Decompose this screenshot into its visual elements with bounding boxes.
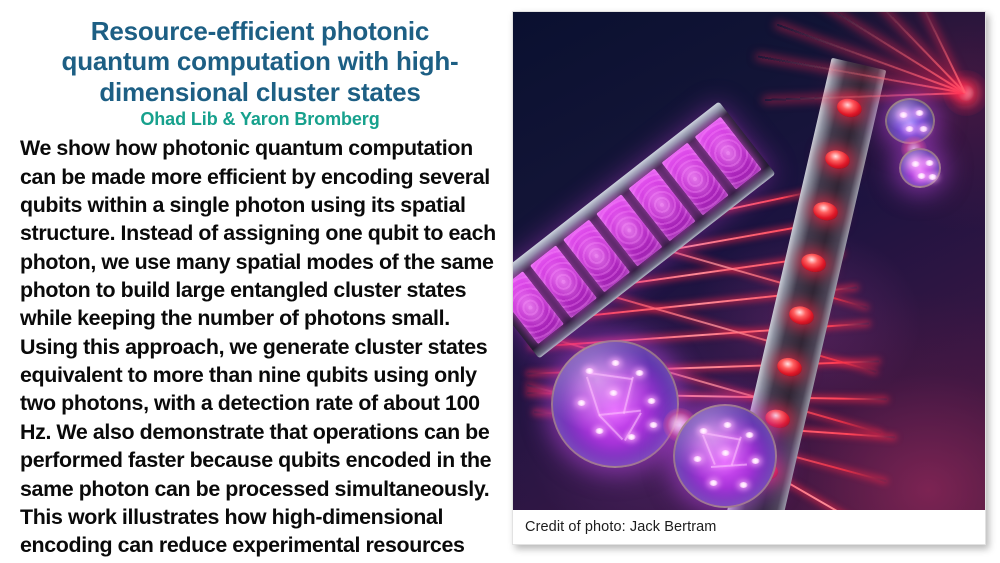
graph-node xyxy=(928,174,937,180)
graph-node xyxy=(917,173,926,179)
slide-root: Resource-efficient photonic quantum comp… xyxy=(0,0,1000,563)
graph-edge xyxy=(589,372,633,380)
detector-dot xyxy=(775,355,803,378)
graph-edge xyxy=(702,435,716,465)
detector-dot xyxy=(787,303,815,326)
detector-dot xyxy=(799,252,827,275)
graph-edge xyxy=(598,414,623,440)
graph-node xyxy=(751,458,760,464)
graph-edge xyxy=(711,463,747,467)
graph-node xyxy=(699,428,708,434)
graph-node xyxy=(709,480,718,486)
figure-caption: Credit of photo: Jack Bertram xyxy=(513,510,985,544)
page-title: Resource-efficient photonic quantum comp… xyxy=(20,16,500,107)
figure-image xyxy=(513,12,985,510)
detector-dot xyxy=(823,148,851,171)
graph-node xyxy=(595,428,604,434)
graph-node xyxy=(627,434,636,440)
detector-dot xyxy=(835,96,863,119)
cluster-state-sphere xyxy=(899,148,941,188)
graph-node xyxy=(721,450,730,456)
figure-card: Credit of photo: Jack Bertram xyxy=(512,11,986,545)
graph-node xyxy=(739,482,748,488)
graph-node xyxy=(745,432,754,438)
graph-node xyxy=(611,360,620,366)
graph-edge xyxy=(731,437,742,466)
cluster-state-sphere xyxy=(551,340,679,468)
graph-node xyxy=(693,456,702,462)
graph-node xyxy=(925,160,934,166)
text-column: Resource-efficient photonic quantum comp… xyxy=(0,0,508,563)
graph-node xyxy=(919,126,928,132)
cluster-state-sphere xyxy=(673,404,777,508)
graph-node xyxy=(905,126,914,132)
graph-node xyxy=(723,422,732,428)
graph-node xyxy=(899,112,908,118)
graph-edge xyxy=(703,432,741,440)
graph-node xyxy=(577,400,586,406)
graph-node xyxy=(915,110,924,116)
graph-node xyxy=(911,161,920,167)
graph-edge xyxy=(623,377,634,414)
graph-node xyxy=(647,398,656,404)
graph-node xyxy=(649,422,658,428)
detector-dot xyxy=(811,200,839,223)
graph-node xyxy=(635,370,644,376)
abstract-paragraph: We show how photonic quantum computation… xyxy=(20,134,500,563)
graph-node xyxy=(609,390,618,396)
graph-node xyxy=(585,368,594,374)
graph-edge xyxy=(599,410,641,416)
graph-edge xyxy=(586,377,600,416)
authors-line: Ohad Lib & Yaron Bromberg xyxy=(20,109,500,130)
